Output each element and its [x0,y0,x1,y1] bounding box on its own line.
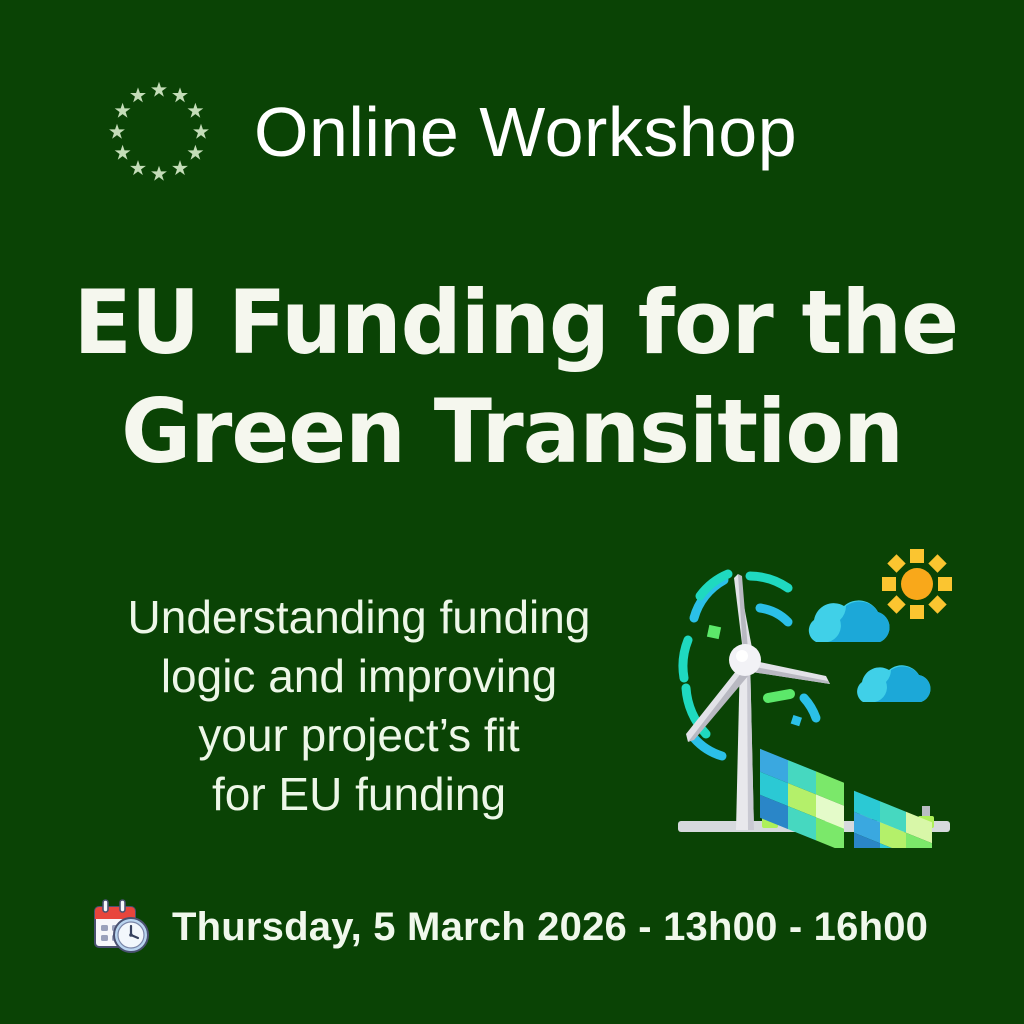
solar-panel-left-icon [760,749,844,848]
datetime-row: Thursday, 5 March 2026 - 13h00 - 16h00 [92,896,928,958]
subtitle-block: Understanding funding logic and improvin… [64,588,654,824]
sun-icon [882,549,952,619]
datetime-text: Thursday, 5 March 2026 - 13h00 - 16h00 [172,905,928,950]
solar-panel-right-icon [854,791,934,848]
subtitle-line-3: your project’s fit [64,706,654,765]
title-line-1: EU Funding for the [74,268,951,377]
title-line-2: Green Transition [74,377,951,486]
green-energy-illustration [664,548,964,848]
page-title: EU Funding for the Green Transition [0,268,1024,486]
eu-stars-circle-icon [100,73,218,191]
calendar-clock-icon [92,899,150,955]
workshop-label: Online Workshop [254,97,797,167]
subtitle-line-2: logic and improving [64,647,654,706]
poster-canvas: Online Workshop EU Funding for the Green… [0,0,1024,1024]
cloud-lower-icon [857,665,930,702]
subtitle-line-1: Understanding funding [64,588,654,647]
cloud-upper-icon [809,600,890,642]
subtitle-line-4: for EU funding [64,765,654,824]
header: Online Workshop [100,72,797,192]
